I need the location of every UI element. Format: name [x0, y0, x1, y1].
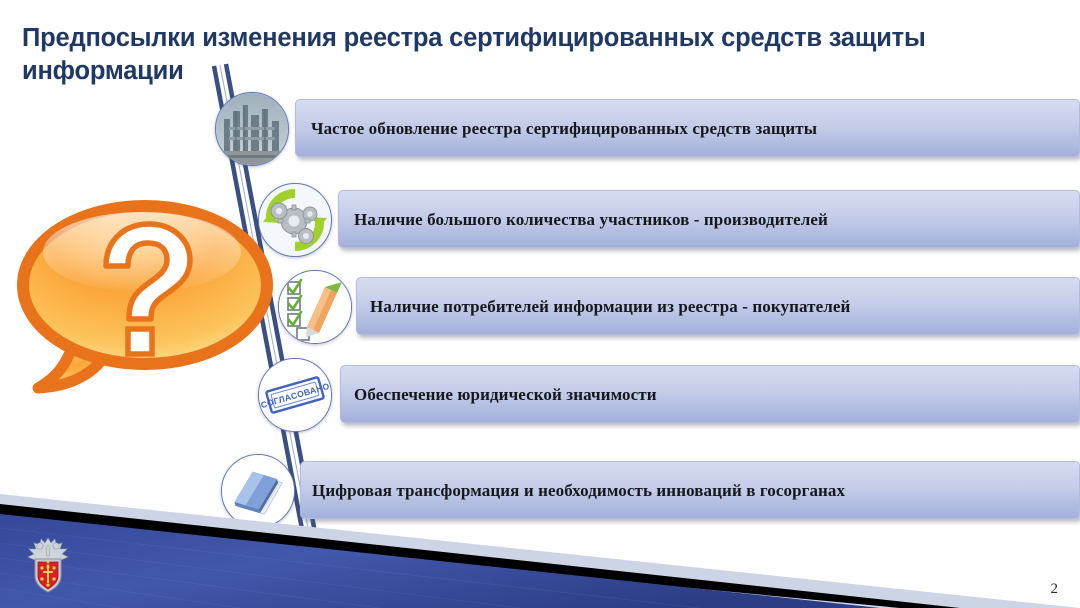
- process-row: Наличие потребителей информации из реест…: [278, 268, 1080, 346]
- question-speech-bubble: [14, 198, 276, 394]
- footer-shapes: [0, 488, 1080, 608]
- page-number: 2: [1051, 581, 1059, 598]
- process-row: Частое обновление реестра сертифицирован…: [215, 90, 1080, 168]
- process-row: Обеспечение юридической значимости СОГЛА…: [258, 356, 1080, 434]
- process-label: Частое обновление реестра сертифицирован…: [311, 119, 817, 139]
- checklist-pencil-icon[interactable]: [278, 270, 352, 344]
- process-label: Обеспечение юридической значимости: [354, 385, 657, 405]
- fstec-emblem: [22, 534, 74, 596]
- industrial-plant-icon[interactable]: [215, 92, 289, 166]
- process-label: Наличие большого количества участников -…: [354, 210, 828, 230]
- footer-decoration: [0, 488, 1080, 608]
- question-bubble-svg: [14, 198, 276, 394]
- fstec-emblem-svg: [22, 534, 74, 596]
- process-label: Наличие потребителей информации из реест…: [370, 297, 850, 317]
- process-row: Наличие большого количества участников -…: [258, 181, 1080, 259]
